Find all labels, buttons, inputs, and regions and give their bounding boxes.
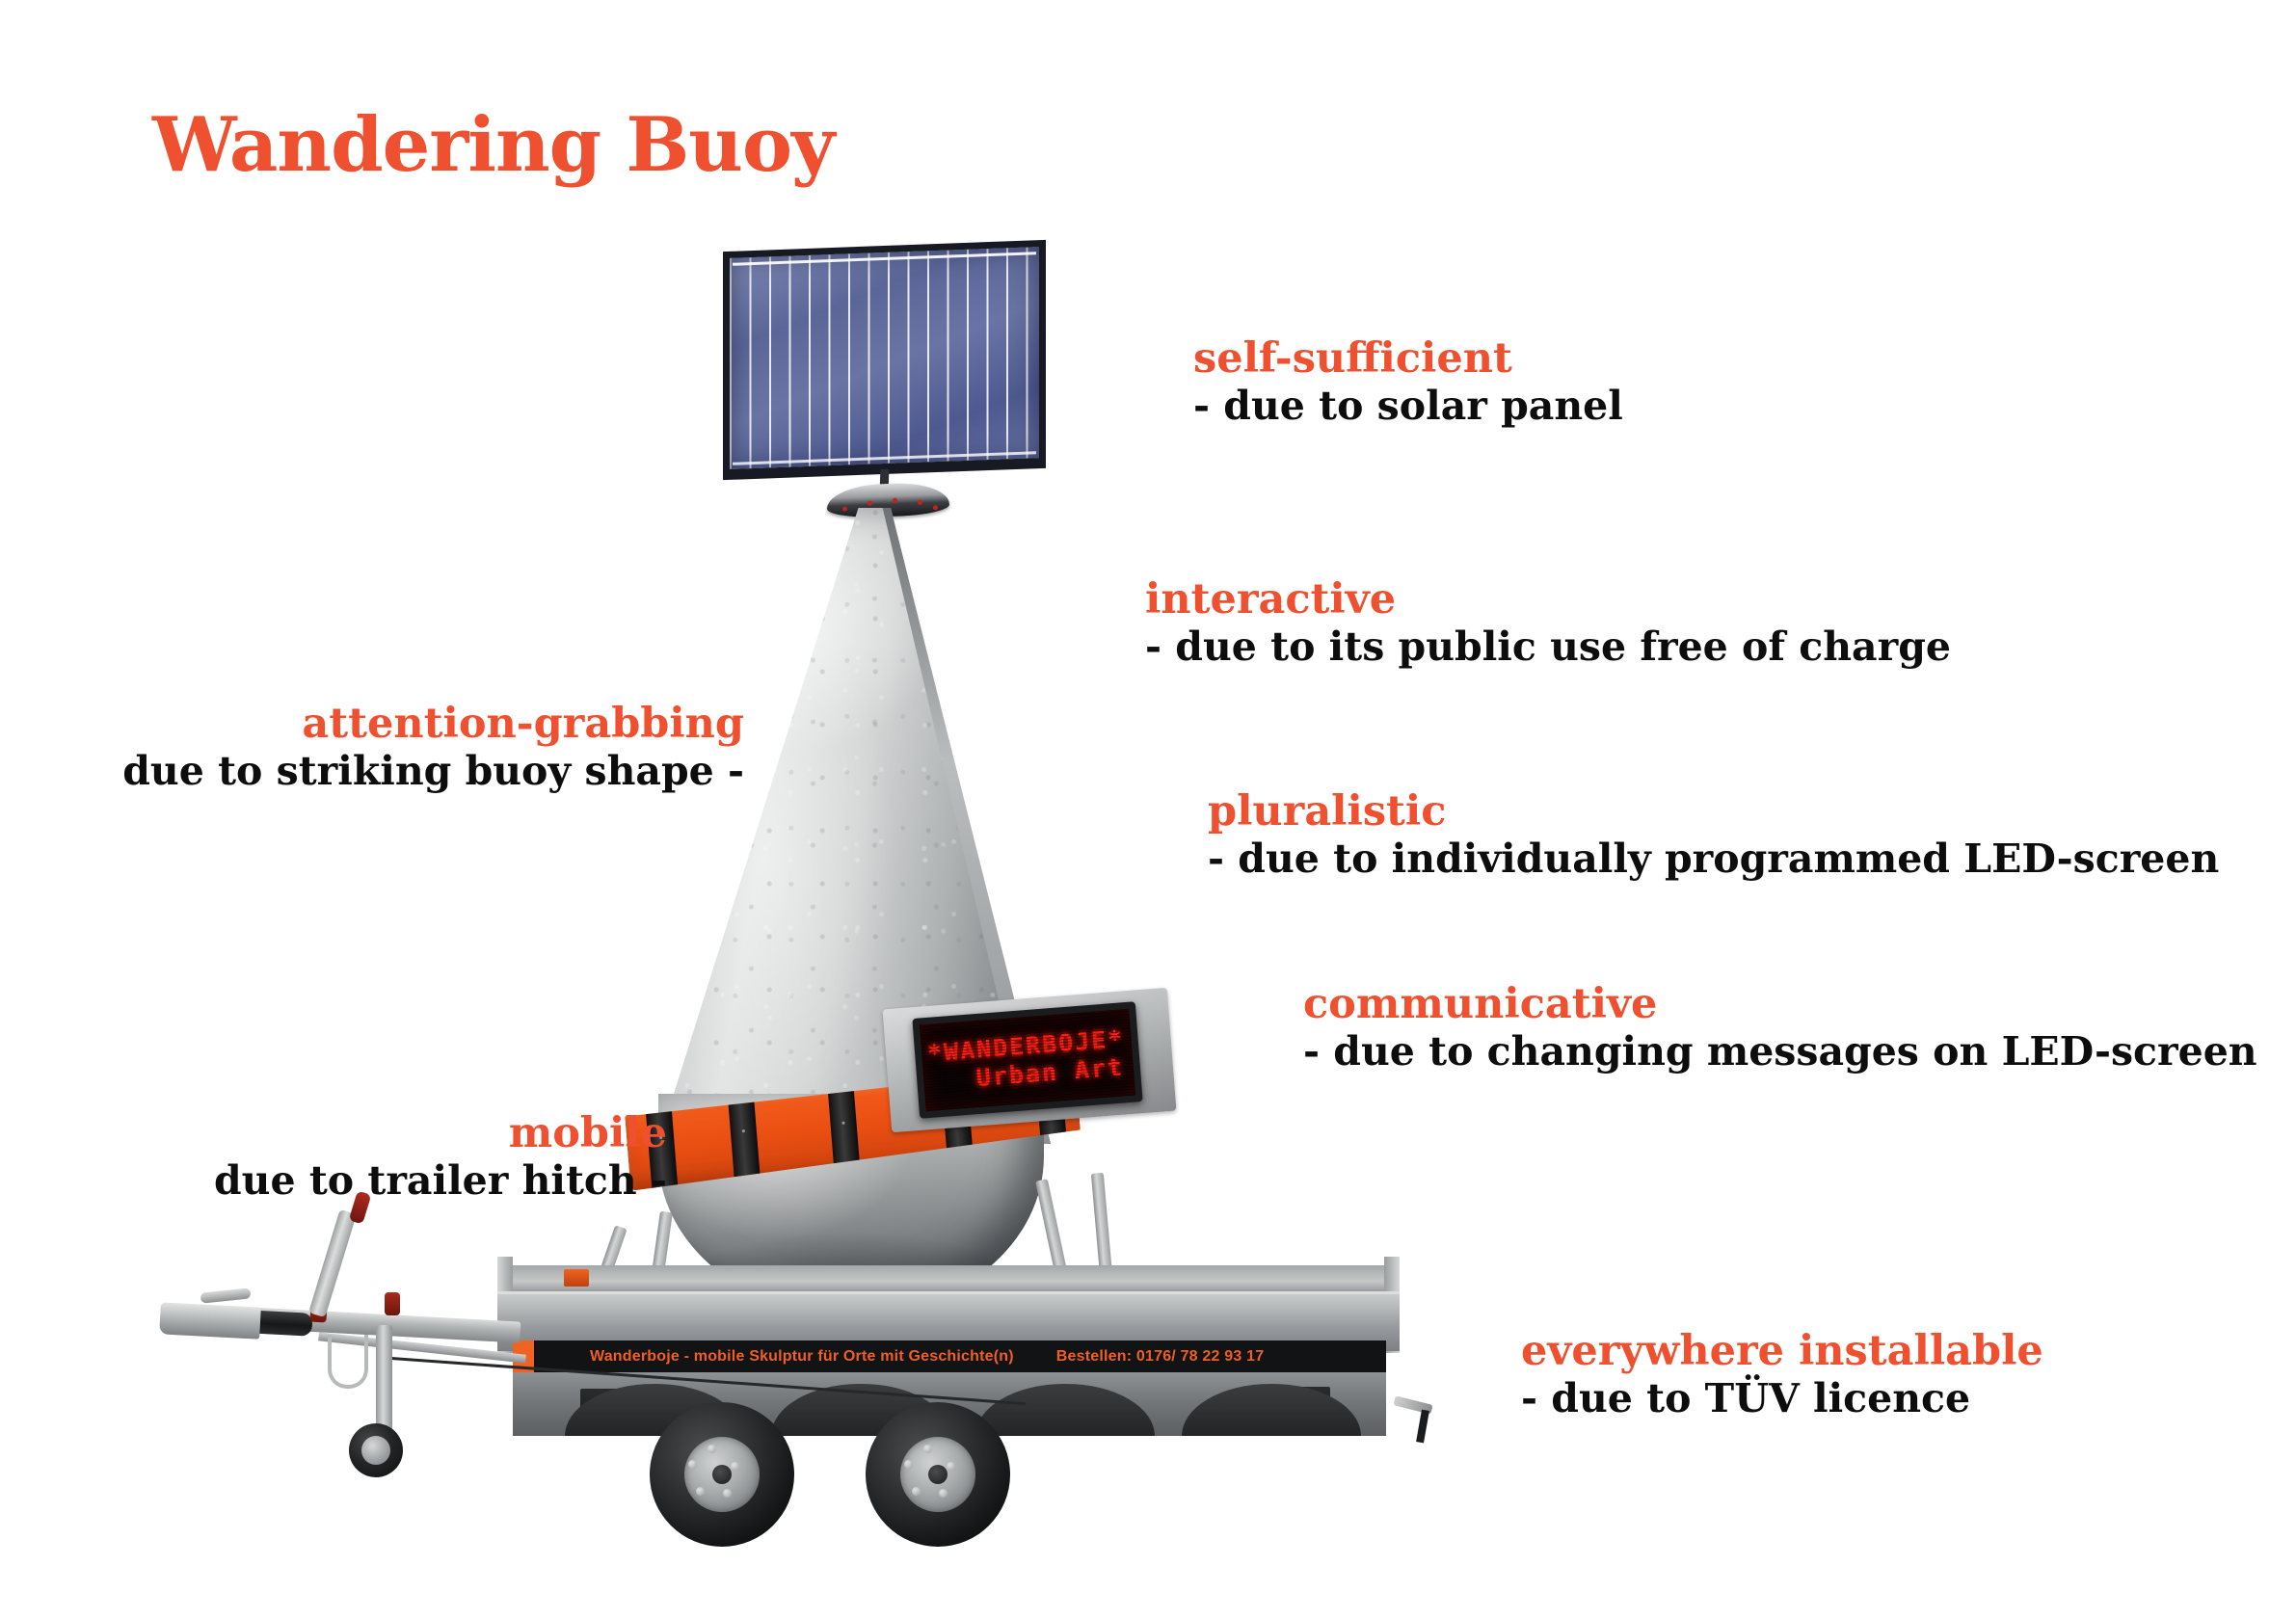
trailer-wheel [866, 1402, 1010, 1547]
annotation-heading: self-sufficient [1193, 335, 1623, 382]
hitch-knob-icon [385, 1292, 400, 1315]
annotation-detail: due to striking buoy shape - [122, 747, 744, 795]
jockey-wheel-post [376, 1325, 392, 1433]
annotation-detail: - due to its public use free of charge [1145, 623, 1951, 671]
buoy-photo: *WANDERBOJE* Urban Art Wanderboje - mobi… [145, 246, 1494, 1527]
annotation-detail: - due to changing messages on LED-screen [1303, 1027, 2257, 1075]
jockey-wheel-bracket [328, 1335, 368, 1389]
coupler-lever [200, 1287, 252, 1303]
handbrake-lever [308, 1209, 357, 1317]
cap-dot-icon [933, 505, 938, 510]
annotation-attention-grabbing: attention-grabbing due to striking buoy … [122, 701, 744, 795]
trailer-slogan: Wanderboje - mobile Skulptur für Orte mi… [590, 1348, 1014, 1366]
wheel-lug-icon [947, 1462, 955, 1471]
annotation-interactive: interactive - due to its public use free… [1145, 576, 1951, 671]
annotation-detail: - due to TÜV licence [1521, 1374, 2043, 1422]
wheel-lug-icon [939, 1489, 948, 1498]
annotation-heading: everywhere installable [1521, 1328, 2043, 1374]
annotation-mobile: mobile due to trailer hitch - [214, 1110, 667, 1205]
cap-dot-icon [868, 501, 872, 506]
trailer-order-line: Bestellen: 0176/ 78 22 93 17 [1056, 1348, 1265, 1366]
trailer-advert-band: Wanderboje - mobile Skulptur für Orte mi… [513, 1340, 1386, 1372]
wheel-lug-icon [923, 1445, 932, 1453]
annotation-everywhere-installable: everywhere installable - due to TÜV lice… [1521, 1328, 2043, 1422]
wheel-lug-icon [688, 1460, 697, 1469]
trailer-hitch-coupler [159, 1302, 261, 1339]
wheel-lug-icon [696, 1487, 705, 1496]
annotation-detail: - due to individually programmed LED-scr… [1208, 835, 2219, 883]
annotation-heading: mobile [214, 1110, 667, 1156]
wheel-lug-icon [904, 1460, 913, 1469]
annotation-heading: pluralistic [1208, 788, 2219, 835]
trailer-bed-inner [505, 1265, 1392, 1294]
annotation-heading: communicative [1303, 981, 2257, 1027]
annotation-detail: - due to solar panel [1193, 382, 1623, 430]
trailer-tail-fitting [1416, 1410, 1429, 1444]
annotation-heading: interactive [1145, 576, 1951, 623]
annotation-pluralistic: pluralistic - due to individually progra… [1208, 788, 2219, 883]
poster-canvas: Wandering Buoy [0, 0, 2296, 1619]
wheel-lug-icon [723, 1489, 732, 1498]
wheel-lug-icon [707, 1445, 716, 1453]
solar-panel-icon [723, 240, 1046, 480]
annotation-heading: attention-grabbing [122, 701, 744, 747]
wheel-lug-icon [912, 1487, 921, 1496]
wheel-hub-icon [712, 1465, 732, 1484]
cap-dot-icon [918, 500, 922, 505]
wheel-lug-icon [731, 1462, 739, 1471]
cap-dot-icon [893, 498, 897, 503]
reflector-icon [564, 1269, 589, 1287]
led-screen: *WANDERBOJE* Urban Art [912, 1001, 1142, 1118]
annotation-self-sufficient: self-sufficient - due to solar panel [1193, 335, 1623, 430]
annotation-communicative: communicative - due to changing messages… [1303, 981, 2257, 1075]
trailer-wheel [650, 1402, 794, 1547]
cap-dot-icon [842, 506, 847, 511]
jockey-wheel [349, 1423, 403, 1477]
wheel-hub-icon [928, 1465, 948, 1484]
annotation-detail: due to trailer hitch - [214, 1156, 667, 1205]
page-title: Wandering Buoy [152, 101, 834, 189]
solar-panel-assembly [723, 246, 1051, 496]
